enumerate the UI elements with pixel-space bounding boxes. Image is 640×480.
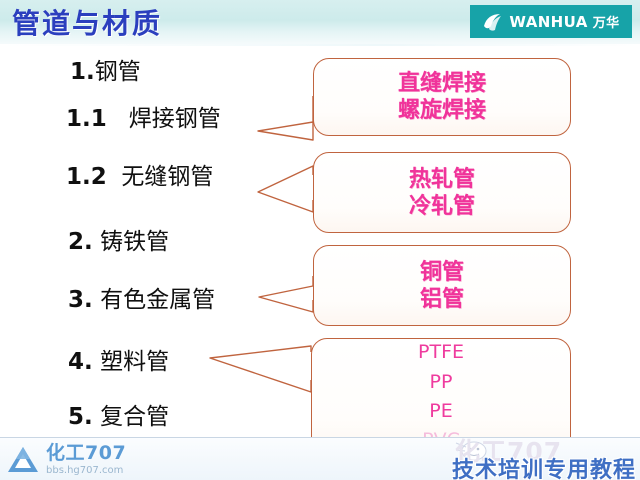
footer-site-name: 化工707	[46, 444, 126, 463]
outline-item-5-label: 复合管	[100, 404, 169, 430]
footer-site-url: bbs.hg707.com	[46, 466, 126, 476]
outline-item-1-label: 钢管	[95, 59, 141, 85]
callout-1-line-1: 直缝焊接	[398, 70, 486, 97]
callout-4-line-1: PTFE	[418, 338, 464, 367]
outline-item-5-number: 5.	[68, 404, 93, 430]
slide-canvas: 管道与材质 WANHUA 万华 1.钢管 1.1 焊接钢管 1.2 无缝钢管 2…	[0, 0, 640, 480]
outline-item-2-label: 铸铁管	[100, 229, 169, 255]
callout-3-line-2: 铝管	[420, 286, 464, 313]
wanhua-logo: WANHUA 万华	[470, 5, 632, 38]
outline-item-1-number: 1.	[70, 59, 95, 85]
outline-item-4-label: 塑料管	[100, 349, 169, 375]
outline-item-4-number: 4.	[68, 349, 93, 375]
page-title: 管道与材质	[12, 2, 162, 42]
outline-item-1-1-number: 1.1	[66, 106, 107, 132]
outline-item-1-1: 1.1 焊接钢管	[66, 99, 221, 133]
wanhua-logo-latin: WANHUA	[509, 13, 587, 31]
outline-item-2: 2. 铸铁管	[68, 222, 169, 256]
outline-item-2-number: 2.	[68, 229, 93, 255]
footer-left-watermark: 化工707 bbs.hg707.com	[6, 444, 126, 476]
outline-item-1-2: 1.2 无缝钢管	[66, 157, 213, 191]
outline-item-1-2-label: 无缝钢管	[121, 164, 213, 190]
outline-item-5: 5. 复合管	[68, 397, 169, 431]
outline-item-3-number: 3.	[68, 287, 93, 313]
callout-3-line-1: 铜管	[420, 259, 464, 286]
header-divider	[0, 44, 640, 46]
footer-right-watermark: 技术培训专用教程	[452, 452, 636, 480]
callout-box-seamless-steel: 热轧管 冷轧管	[313, 152, 571, 233]
outline-item-1-1-label: 焊接钢管	[129, 106, 221, 132]
triangle-logo-icon	[6, 445, 40, 475]
outline-item-3-label: 有色金属管	[100, 287, 215, 313]
wanhua-logo-chinese: 万华	[593, 12, 620, 31]
callout-4-line-2: PP	[430, 368, 453, 397]
outline-item-3: 3. 有色金属管	[68, 280, 215, 314]
callout-2-line-1: 热轧管	[409, 166, 475, 193]
callout-4-line-3: PE	[429, 397, 452, 426]
callout-1-line-2: 螺旋焊接	[398, 97, 486, 124]
wanhua-swirl-icon	[482, 12, 504, 32]
outline-item-1-2-number: 1.2	[66, 164, 107, 190]
outline-item-4: 4. 塑料管	[68, 342, 169, 376]
callout-box-welded-steel: 直缝焊接 螺旋焊接	[313, 58, 571, 136]
callout-2-line-2: 冷轧管	[409, 193, 475, 220]
outline-item-1: 1.钢管	[70, 52, 141, 86]
callout-box-nonferrous: 铜管 铝管	[313, 245, 571, 326]
